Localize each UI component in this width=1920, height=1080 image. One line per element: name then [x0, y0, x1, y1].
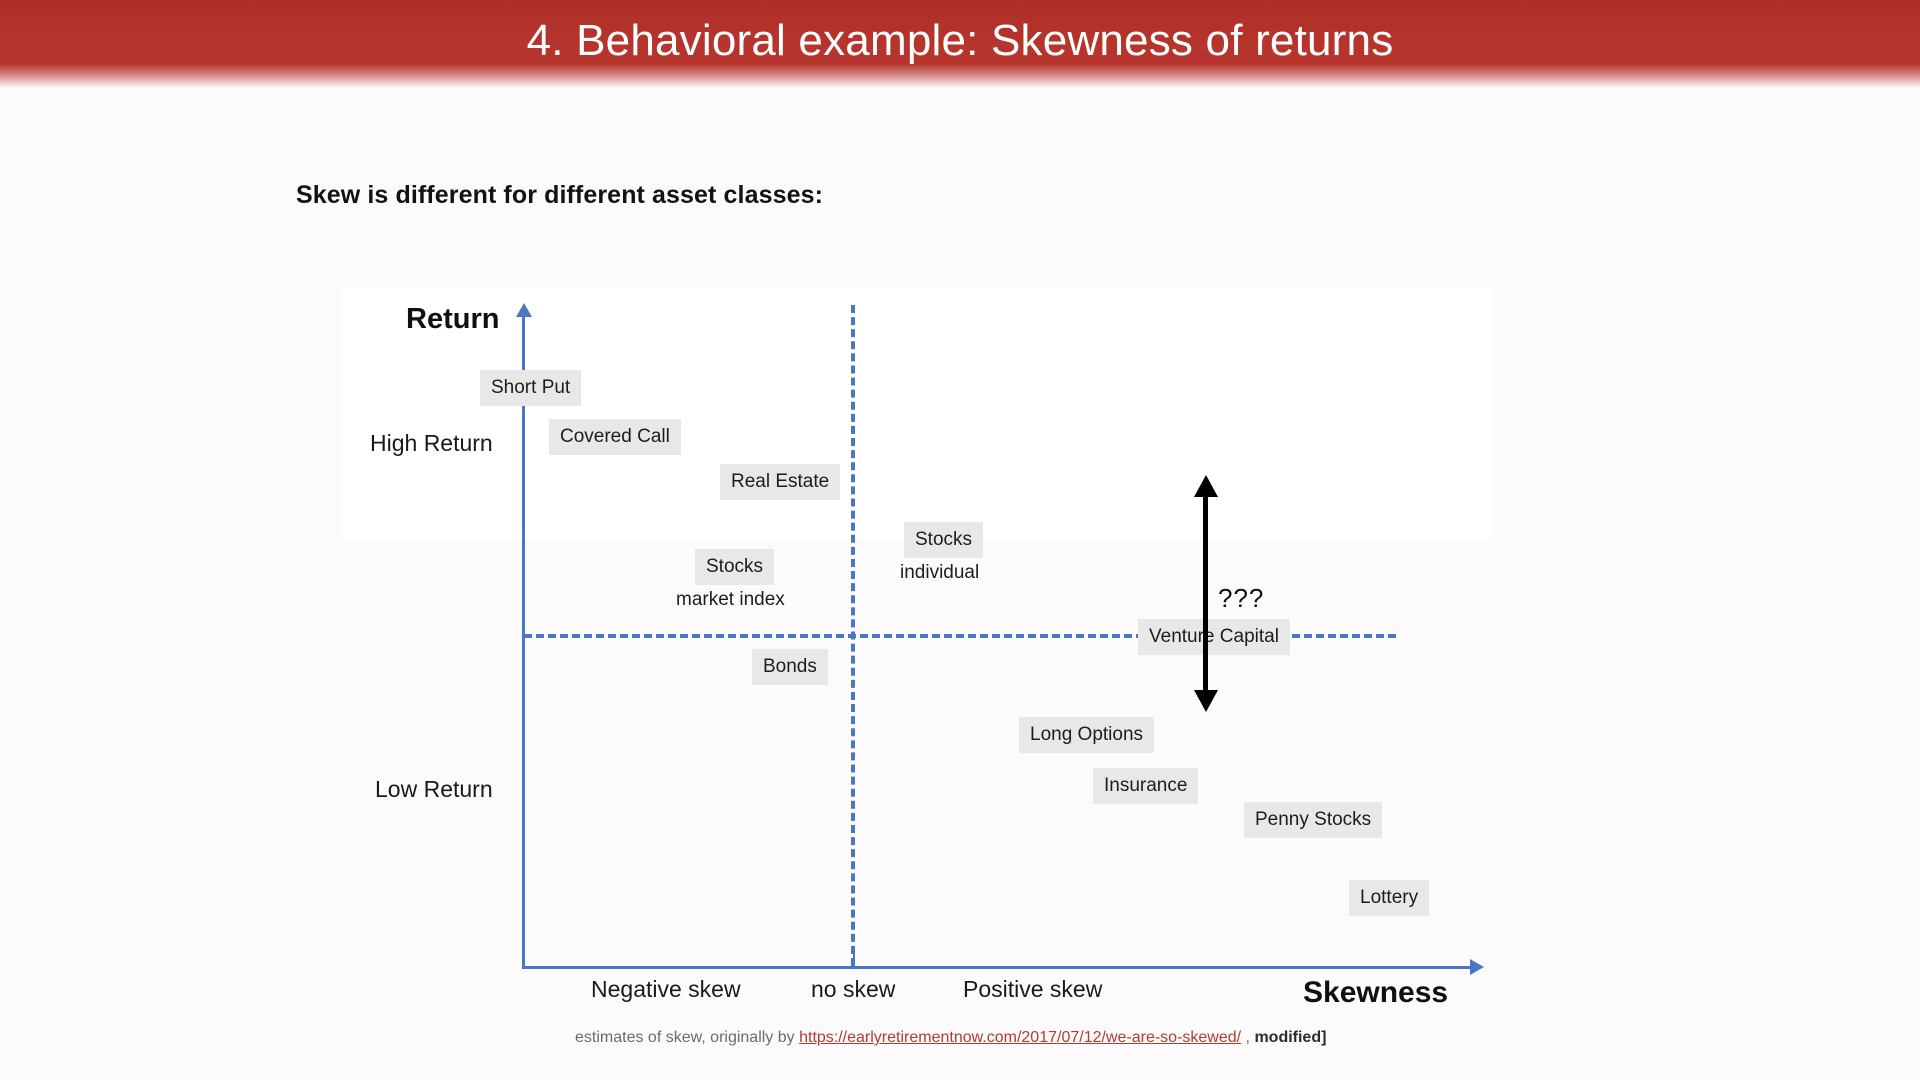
- asset-label-insurance: Insurance: [1093, 768, 1198, 804]
- skewness-return-chart: Return Skewness High Return Low Return N…: [0, 0, 1920, 1080]
- asset-label-venture-capital: Venture Capital: [1138, 619, 1290, 655]
- subtitle-text: Skew is different for different asset cl…: [296, 181, 823, 210]
- title-bar: 4. Behavioral example: Skewness of retur…: [0, 0, 1920, 88]
- y-axis-title: Return: [406, 303, 499, 336]
- asset-label-real-estate: Real Estate: [720, 464, 840, 500]
- x-tick-negative-skew: Negative skew: [591, 976, 741, 1003]
- footnote-separator: ,: [1241, 1029, 1254, 1046]
- footnote-prefix: estimates of skew, originally by: [575, 1029, 799, 1046]
- y-axis-line: [522, 314, 525, 969]
- asset-label-bonds: Bonds: [752, 649, 828, 685]
- asset-label-covered-call: Covered Call: [549, 419, 681, 455]
- x-axis-line: [522, 966, 1472, 969]
- footnote-modified-note: modified]: [1254, 1029, 1326, 1046]
- source-footnote: estimates of skew, originally by https:/…: [575, 1029, 1326, 1047]
- asset-label-stocks-individual: Stocks: [904, 522, 983, 558]
- page-title: 4. Behavioral example: Skewness of retur…: [0, 14, 1920, 68]
- x-axis-arrow-icon: [1470, 959, 1484, 975]
- asset-sublabel-individual: individual: [900, 563, 979, 582]
- asset-label-penny-stocks: Penny Stocks: [1244, 802, 1382, 838]
- asset-label-short-put: Short Put: [480, 370, 581, 406]
- source-link[interactable]: https://earlyretirementnow.com/2017/07/1…: [799, 1029, 1241, 1046]
- asset-sublabel-market-index: market index: [676, 590, 785, 609]
- y-tick-low-return: Low Return: [375, 776, 493, 803]
- asset-label-long-options: Long Options: [1019, 717, 1154, 753]
- y-tick-high-return: High Return: [370, 430, 493, 457]
- uncertainty-arrow-shaft: [1203, 488, 1208, 700]
- x-tick-positive-skew: Positive skew: [963, 976, 1102, 1003]
- uncertainty-arrow-down-icon: [1194, 690, 1218, 712]
- x-axis-title: Skewness: [1303, 976, 1448, 1010]
- chart-figure-panel: [341, 288, 1492, 540]
- y-axis-arrow-icon: [516, 303, 532, 317]
- x-tick-no-skew: no skew: [811, 976, 895, 1003]
- asset-label-stocks-market-index: Stocks: [695, 549, 774, 585]
- asset-label-lottery: Lottery: [1349, 880, 1429, 916]
- uncertainty-annotation-label: ???: [1218, 583, 1264, 614]
